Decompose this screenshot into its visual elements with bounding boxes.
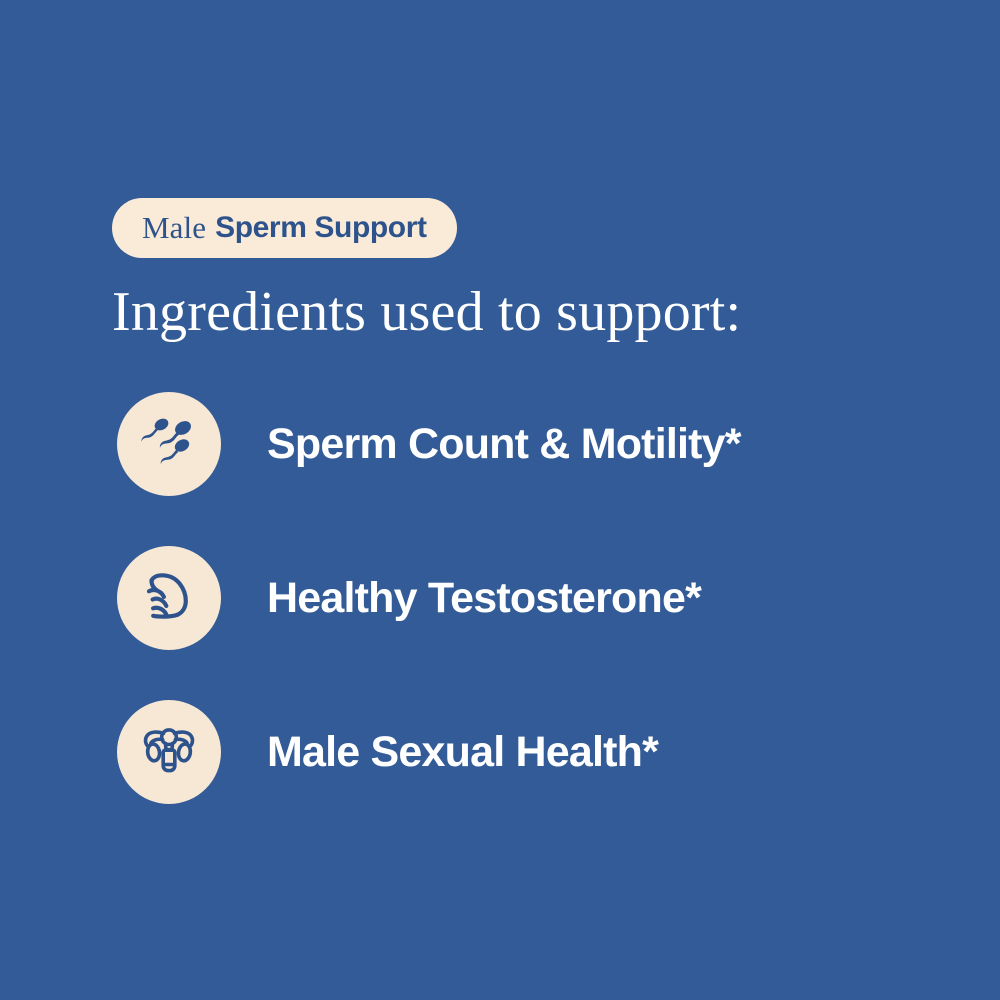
list-item: Healthy Testosterone* xyxy=(117,546,977,650)
badge-serif-text: Male xyxy=(142,210,206,246)
icon-badge-sperm xyxy=(117,392,221,496)
icon-badge-sexual-health xyxy=(117,700,221,804)
male-reproductive-anatomy-icon xyxy=(138,719,200,786)
sperm-icon xyxy=(138,411,200,478)
page-title: Ingredients used to support: xyxy=(112,282,741,344)
badge-bold-text: Sperm Support xyxy=(215,211,426,245)
category-badge: Male Sperm Support xyxy=(112,198,457,258)
icon-badge-testosterone xyxy=(117,546,221,650)
list-item-label: Male Sexual Health* xyxy=(267,728,658,777)
list-item: Male Sexual Health* xyxy=(117,700,977,804)
list-item-label: Healthy Testosterone* xyxy=(267,574,701,623)
list-item-label: Sperm Count & Motility* xyxy=(267,420,741,469)
flexed-bicep-icon xyxy=(138,565,200,632)
male-sperm-support-promo-card: Male Sperm Support Ingredients used to s… xyxy=(0,0,1000,1000)
list-item: Sperm Count & Motility* xyxy=(117,392,977,496)
benefits-list: Sperm Count & Motility* xyxy=(117,392,977,804)
